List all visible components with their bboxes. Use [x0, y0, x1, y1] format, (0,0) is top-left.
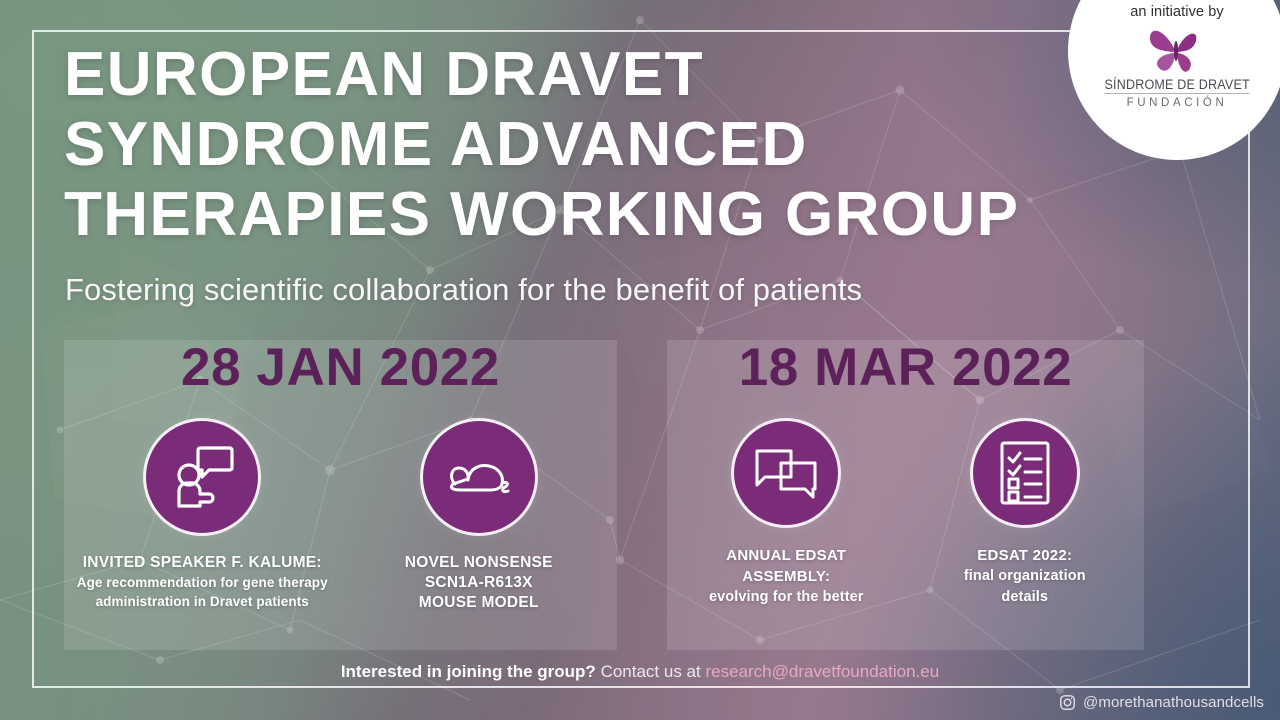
title-line-2: SYNDROME ADVANCED	[64, 110, 1144, 180]
instagram-handle-block[interactable]: @morethanathousandcells	[1059, 694, 1264, 711]
icon-badge-assembly	[731, 418, 841, 528]
caption-subline-2: details	[964, 587, 1086, 608]
event-date-march: 18 MAR 2022	[667, 332, 1144, 404]
footer-contact-line: Interested in joining the group? Contact…	[0, 662, 1280, 682]
poster-canvas: an initiative by SÍNDROME DE DRAVET FUND…	[0, 0, 1280, 720]
event-caption: INVITED SPEAKER F. KALUME: Age recommend…	[77, 553, 328, 611]
speech-bubbles-icon	[751, 441, 821, 505]
page-subtitle: Fostering scientific collaboration for t…	[65, 272, 862, 308]
event-caption: NOVEL NONSENSE SCN1A-R613X MOUSE MODEL	[405, 553, 553, 613]
speaker-person-icon	[165, 440, 239, 514]
instagram-handle-text: @morethanathousandcells	[1083, 694, 1264, 711]
butterfly-icon	[1144, 24, 1210, 76]
event-item: EDSAT 2022: final organization details	[906, 418, 1145, 608]
event-panel-january: 28 JAN 2022 INVITED SPEAKER F. KALUME:	[64, 340, 617, 650]
title-line-1: EUROPEAN DRAVET	[64, 40, 1144, 110]
icon-badge-mouse	[420, 418, 538, 536]
event-panel-march: 18 MAR 2022 ANNUAL EDSAT ASSEMBLY: evolv…	[667, 340, 1144, 650]
event-items-march: ANNUAL EDSAT ASSEMBLY: evolving for the …	[667, 418, 1144, 608]
icon-badge-speaker	[143, 418, 261, 536]
event-caption: EDSAT 2022: final organization details	[964, 545, 1086, 608]
event-caption: ANNUAL EDSAT ASSEMBLY: evolving for the …	[709, 545, 864, 608]
icon-badge-checklist	[970, 418, 1080, 528]
checklist-icon	[994, 437, 1056, 509]
event-item: INVITED SPEAKER F. KALUME: Age recommend…	[64, 418, 341, 611]
logo-initiative-text: an initiative by	[1130, 4, 1224, 20]
caption-subline-2: administration in Dravet patients	[77, 592, 328, 611]
lab-mouse-icon	[439, 440, 519, 514]
caption-subline-1: final organization	[964, 566, 1086, 587]
caption-heading: EDSAT 2022:	[964, 545, 1086, 566]
caption-subline-1: Age recommendation for gene therapy	[77, 573, 328, 592]
instagram-icon	[1059, 694, 1076, 711]
caption-subline-1: SCN1A-R613X	[405, 573, 553, 593]
caption-subline-1: ASSEMBLY:	[709, 566, 864, 587]
footer-question: Interested in joining the group?	[341, 662, 596, 681]
footer-contact-prefix: Contact us at	[601, 662, 701, 681]
caption-heading: ANNUAL EDSAT	[709, 545, 864, 566]
event-item: NOVEL NONSENSE SCN1A-R613X MOUSE MODEL	[341, 418, 618, 613]
footer-email-link[interactable]: research@dravetfoundation.eu	[705, 662, 939, 681]
event-items-january: INVITED SPEAKER F. KALUME: Age recommend…	[64, 418, 617, 613]
event-date-january: 28 JAN 2022	[64, 332, 617, 404]
title-line-3: THERAPIES WORKING GROUP	[64, 180, 1144, 250]
caption-subline-2: evolving for the better	[709, 587, 864, 608]
caption-heading: INVITED SPEAKER F. KALUME:	[77, 553, 328, 573]
caption-heading: NOVEL NONSENSE	[405, 553, 553, 573]
event-item: ANNUAL EDSAT ASSEMBLY: evolving for the …	[667, 418, 906, 608]
page-title: EUROPEAN DRAVET SYNDROME ADVANCED THERAP…	[64, 40, 1144, 250]
caption-subline-2: MOUSE MODEL	[405, 593, 553, 613]
